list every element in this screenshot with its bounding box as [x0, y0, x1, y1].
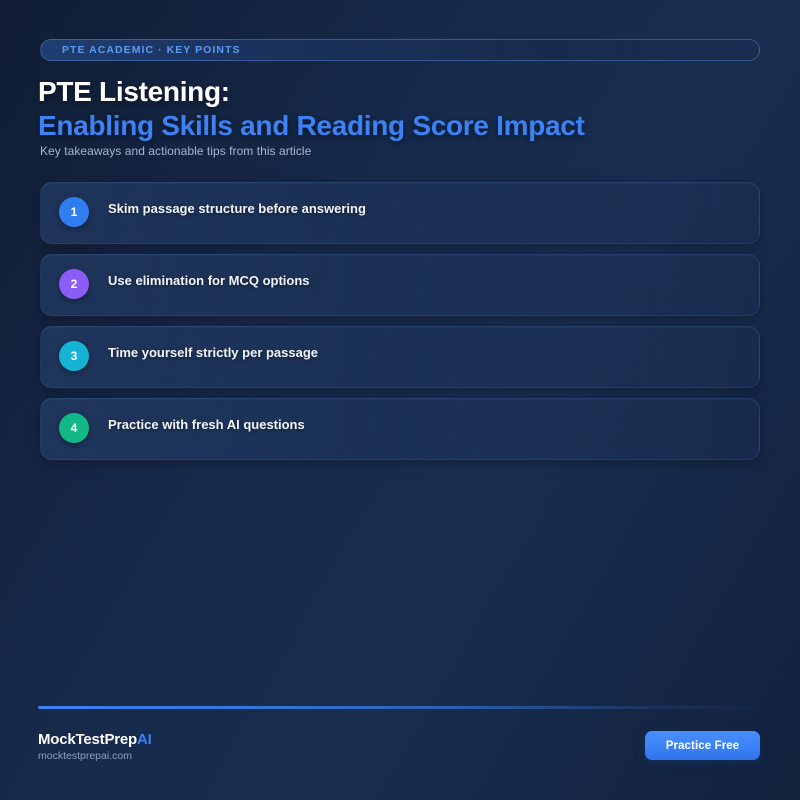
eyebrow-label: PTE ACADEMIC · KEY POINTS	[62, 44, 241, 56]
key-point-text: Practice with fresh AI questions	[108, 416, 305, 434]
key-point-number-badge: 2	[59, 269, 89, 299]
practice-free-button[interactable]: Practice Free	[645, 731, 760, 760]
key-point-card: 1Skim passage structure before answering	[40, 182, 760, 244]
eyebrow-pill: PTE ACADEMIC · KEY POINTS	[40, 39, 760, 61]
key-point-text: Time yourself strictly per passage	[108, 344, 318, 362]
brand-name-main: MockTestPrep	[38, 731, 137, 748]
page-subtitle: Key takeaways and actionable tips from t…	[40, 144, 311, 158]
key-point-number-badge: 3	[59, 341, 89, 371]
brand-logo: MockTestPrepAI	[38, 731, 152, 748]
key-points-list: 1Skim passage structure before answering…	[40, 182, 760, 470]
website-url: mocktestprepai.com	[38, 750, 132, 762]
key-point-number-badge: 1	[59, 197, 89, 227]
page-title-line-2: Enabling Skills and Reading Score Impact	[38, 110, 585, 142]
page-title-line-1: PTE Listening:	[38, 76, 230, 108]
key-point-card: 4Practice with fresh AI questions	[40, 398, 760, 460]
key-point-number-badge: 4	[59, 413, 89, 443]
key-point-card: 2Use elimination for MCQ options	[40, 254, 760, 316]
brand-name-accent: AI	[137, 731, 152, 748]
poster-canvas: PTE ACADEMIC · KEY POINTS PTE Listening:…	[0, 0, 800, 800]
footer-divider	[38, 706, 760, 709]
key-point-text: Skim passage structure before answering	[108, 200, 366, 218]
key-point-text: Use elimination for MCQ options	[108, 272, 310, 290]
key-point-card: 3Time yourself strictly per passage	[40, 326, 760, 388]
